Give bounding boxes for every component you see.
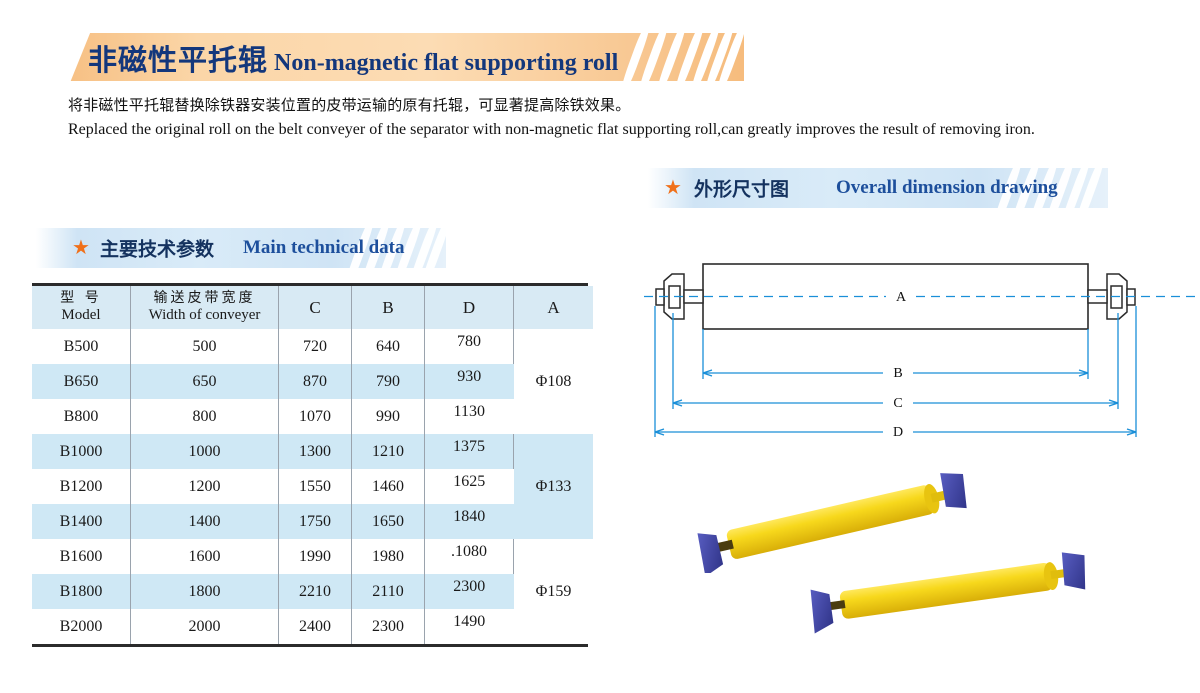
d-cell: .1080 bbox=[425, 539, 514, 574]
roller-2-mount-left bbox=[809, 587, 835, 633]
col-header-model: 型 号 Model bbox=[32, 286, 131, 329]
width-cell: 500 bbox=[131, 329, 279, 364]
c-cell: 1300 bbox=[279, 434, 352, 469]
section-technical-label-en: Main technical data bbox=[243, 237, 405, 259]
roller-2-group bbox=[808, 549, 1090, 633]
roller-1-mount-right bbox=[938, 468, 970, 512]
a-cell: Φ159 bbox=[514, 539, 594, 644]
table-body: B500500720640780Φ108B650650870790930B800… bbox=[32, 329, 593, 644]
width-cell: 1800 bbox=[131, 574, 279, 609]
col-header-b: B bbox=[352, 286, 425, 329]
section-technical-label-cn: 主要技术参数 bbox=[100, 235, 214, 262]
a-cell: Φ108 bbox=[514, 329, 594, 434]
table-row: B80080010709901130 bbox=[32, 399, 593, 434]
table-row: B500500720640780Φ108 bbox=[32, 329, 593, 364]
d-cell: 1375 bbox=[425, 434, 514, 469]
d-cell: 2300 bbox=[425, 574, 514, 609]
c-cell: 2210 bbox=[279, 574, 352, 609]
b-cell: 2110 bbox=[352, 574, 425, 609]
section-banner-dimension: ★ 外形尺寸图 Overall dimension drawing bbox=[648, 168, 1108, 208]
d-cell: 780 bbox=[425, 329, 514, 364]
b-cell: 1460 bbox=[352, 469, 425, 504]
model-cell: B1000 bbox=[32, 434, 131, 469]
width-cell: 1400 bbox=[131, 504, 279, 539]
b-cell: 640 bbox=[352, 329, 425, 364]
d-cell: 930 bbox=[425, 364, 514, 399]
product-photo-roller-2 bbox=[800, 540, 1105, 640]
b-cell: 1980 bbox=[352, 539, 425, 574]
section-banner-technical: ★ 主要技术参数 Main technical data bbox=[36, 228, 446, 268]
star-icon: ★ bbox=[72, 238, 90, 258]
table-row: B12001200155014601625 bbox=[32, 469, 593, 504]
width-cell: 2000 bbox=[131, 609, 279, 644]
table-row: B14001400175016501840 bbox=[32, 504, 593, 539]
model-cell: B1800 bbox=[32, 574, 131, 609]
dimension-label-a: A bbox=[896, 290, 907, 305]
width-cell: 1200 bbox=[131, 469, 279, 504]
col-header-c: C bbox=[279, 286, 352, 329]
d-cell: 1625 bbox=[425, 469, 514, 504]
roller-2-body bbox=[839, 562, 1053, 619]
title-banner-stripes bbox=[614, 33, 744, 81]
dimension-drawing: A B C D bbox=[640, 243, 1200, 448]
col-header-d: D bbox=[425, 286, 514, 329]
b-cell: 990 bbox=[352, 399, 425, 434]
roller-photo-2-svg bbox=[800, 540, 1105, 640]
model-cell: B1600 bbox=[32, 539, 131, 574]
b-cell: 1210 bbox=[352, 434, 425, 469]
c-cell: 720 bbox=[279, 329, 352, 364]
spec-table: 型 号 Model 输送皮带宽度 Width of conveyer C B D bbox=[32, 286, 593, 644]
table-row: B1600160019901980.1080Φ159 bbox=[32, 539, 593, 574]
table-bottom-rule bbox=[32, 644, 588, 647]
dimension-label-d: D bbox=[893, 425, 903, 440]
model-cell: B1200 bbox=[32, 469, 131, 504]
title-banner: 非磁性平托辊Non-magnetic flat supporting roll bbox=[44, 33, 744, 81]
page-title: 非磁性平托辊Non-magnetic flat supporting roll bbox=[88, 37, 618, 79]
table-row: B10001000130012101375Φ133 bbox=[32, 434, 593, 469]
d-cell: 1130 bbox=[425, 399, 514, 434]
page-title-cn: 非磁性平托辊 bbox=[88, 43, 268, 77]
b-cell: 2300 bbox=[352, 609, 425, 644]
model-cell: B500 bbox=[32, 329, 131, 364]
section-dimension-label-en: Overall dimension drawing bbox=[836, 177, 1058, 199]
c-cell: 1990 bbox=[279, 539, 352, 574]
model-cell: B650 bbox=[32, 364, 131, 399]
dimension-label-c: C bbox=[893, 396, 902, 411]
dimension-drawing-svg: A B C D bbox=[640, 243, 1200, 448]
c-cell: 1750 bbox=[279, 504, 352, 539]
col-header-width: 输送皮带宽度 Width of conveyer bbox=[131, 286, 279, 329]
col-header-a: A bbox=[514, 286, 594, 329]
d-cell: 1490 bbox=[425, 609, 514, 644]
description-block: 将非磁性平托辊替换除铁器安装位置的皮带运输的原有托辊，可显著提高除铁效果。 Re… bbox=[68, 94, 1188, 141]
width-cell: 650 bbox=[131, 364, 279, 399]
d-cell: 1840 bbox=[425, 504, 514, 539]
model-cell: B800 bbox=[32, 399, 131, 434]
c-cell: 1550 bbox=[279, 469, 352, 504]
dimension-label-b: B bbox=[893, 366, 902, 381]
description-en: Replaced the original roll on the belt c… bbox=[68, 118, 1188, 141]
b-cell: 1650 bbox=[352, 504, 425, 539]
c-cell: 870 bbox=[279, 364, 352, 399]
spec-table-wrapper: 型 号 Model 输送皮带宽度 Width of conveyer C B D bbox=[32, 283, 588, 647]
a-cell: Φ133 bbox=[514, 434, 594, 539]
section-dimension-label-cn: 外形尺寸图 bbox=[694, 175, 789, 202]
description-cn: 将非磁性平托辊替换除铁器安装位置的皮带运输的原有托辊，可显著提高除铁效果。 bbox=[68, 94, 1188, 116]
width-cell: 1600 bbox=[131, 539, 279, 574]
table-head: 型 号 Model 输送皮带宽度 Width of conveyer C B D bbox=[32, 286, 593, 329]
c-cell: 2400 bbox=[279, 609, 352, 644]
page-title-en: Non-magnetic flat supporting roll bbox=[274, 50, 618, 76]
roller-2-mount-right bbox=[1060, 549, 1089, 592]
table-row: B20002000240023001490 bbox=[32, 609, 593, 644]
table-row: B650650870790930 bbox=[32, 364, 593, 399]
table-row: B18001800221021102300 bbox=[32, 574, 593, 609]
model-cell: B1400 bbox=[32, 504, 131, 539]
star-icon: ★ bbox=[664, 178, 682, 198]
c-cell: 1070 bbox=[279, 399, 352, 434]
model-cell: B2000 bbox=[32, 609, 131, 644]
table-header-row: 型 号 Model 输送皮带宽度 Width of conveyer C B D bbox=[32, 286, 593, 329]
width-cell: 1000 bbox=[131, 434, 279, 469]
b-cell: 790 bbox=[352, 364, 425, 399]
width-cell: 800 bbox=[131, 399, 279, 434]
